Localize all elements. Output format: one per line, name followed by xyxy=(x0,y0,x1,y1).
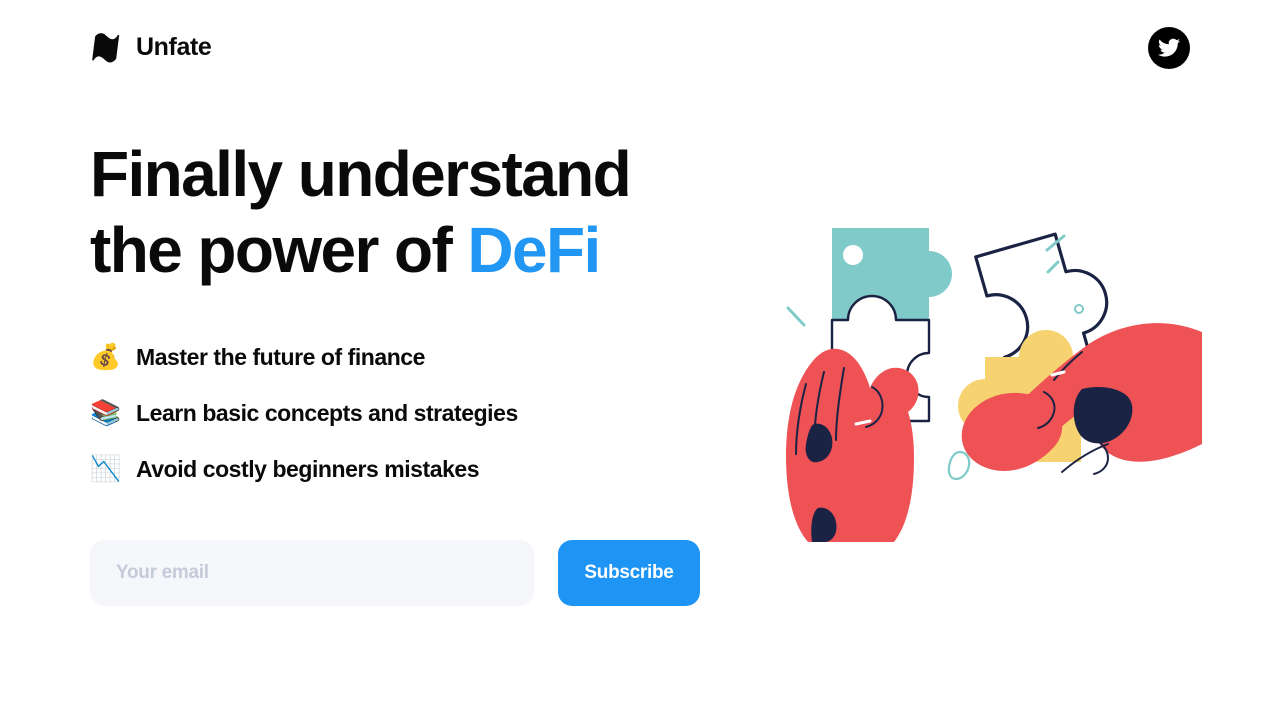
benefit-label: Avoid costly beginners mistakes xyxy=(136,456,479,483)
headline-line-2-prefix: the power of xyxy=(90,214,467,286)
hands-with-puzzle-pieces-illustration xyxy=(752,182,1202,542)
page-title: Finally understandthe power of DeFi xyxy=(90,136,730,288)
books-icon: 📚 xyxy=(90,401,120,426)
headline-accent-defi: DeFi xyxy=(467,214,599,286)
list-item: 💰 Master the future of finance xyxy=(90,340,730,374)
benefit-label: Master the future of finance xyxy=(136,344,425,371)
subscribe-button[interactable]: Subscribe xyxy=(558,540,700,606)
subscribe-form: Subscribe xyxy=(90,540,700,606)
money-bag-icon: 💰 xyxy=(90,345,120,370)
list-item: 📉 Avoid costly beginners mistakes xyxy=(90,452,730,486)
chart-decreasing-icon: 📉 xyxy=(90,457,120,482)
benefit-label: Learn basic concepts and strategies xyxy=(136,400,518,427)
hero-copy: Finally understandthe power of DeFi 💰 Ma… xyxy=(90,136,730,486)
benefits-list: 💰 Master the future of finance 📚 Learn b… xyxy=(90,340,730,486)
email-input[interactable] xyxy=(90,540,534,606)
headline-line-1: Finally understand xyxy=(90,138,630,210)
hero-section: Finally understandthe power of DeFi 💰 Ma… xyxy=(0,0,1280,720)
landing-page: Unfate Finally understandthe power of De… xyxy=(0,0,1280,720)
list-item: 📚 Learn basic concepts and strategies xyxy=(90,396,730,430)
